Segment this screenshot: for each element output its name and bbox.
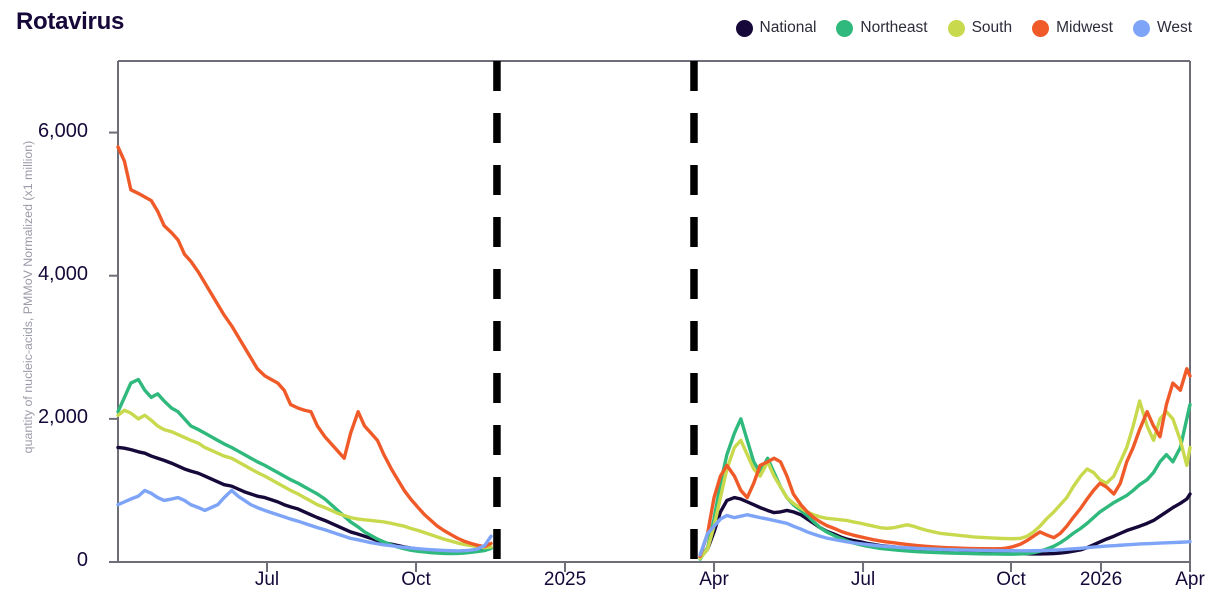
chart-area: quantity of nucleic-acids, PMMoV Normali… <box>0 0 1210 606</box>
series-line-northeast <box>118 379 491 553</box>
series-line-midwest <box>700 369 1190 557</box>
series-line-south <box>118 410 491 547</box>
plot-canvas <box>0 0 1210 606</box>
